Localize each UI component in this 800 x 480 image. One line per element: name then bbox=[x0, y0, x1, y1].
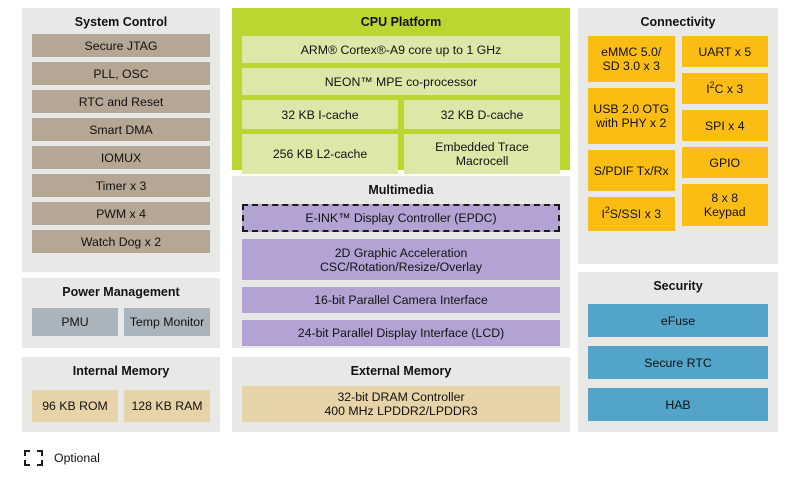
block-l2-cache[interactable]: 256 KB L2-cache bbox=[242, 134, 398, 174]
emmc-line-2: SD 3.0 x 3 bbox=[603, 59, 660, 73]
power-management-blocks: PMU Temp Monitor bbox=[32, 308, 210, 336]
etm-line-2: Macrocell bbox=[456, 154, 509, 168]
block-rtc-and-reset[interactable]: RTC and Reset bbox=[32, 90, 210, 113]
block-epdc[interactable]: E-INK™ Display Controller (EPDC) bbox=[242, 204, 560, 232]
block-camera-interface[interactable]: 16-bit Parallel Camera Interface bbox=[242, 287, 560, 313]
block-secure-rtc[interactable]: Secure RTC bbox=[588, 346, 768, 379]
block-2d-graphic-acceleration[interactable]: 2D Graphic Acceleration CSC/Rotation/Res… bbox=[242, 239, 560, 280]
connectivity-title: Connectivity bbox=[578, 8, 778, 34]
block-dram-controller[interactable]: 32-bit DRAM Controller 400 MHz LPDDR2/LP… bbox=[242, 386, 560, 422]
block-iomux[interactable]: IOMUX bbox=[32, 146, 210, 169]
external-memory-blocks: 32-bit DRAM Controller 400 MHz LPDDR2/LP… bbox=[242, 386, 560, 422]
block-pll-osc[interactable]: PLL, OSC bbox=[32, 62, 210, 85]
gpu-line-1: 2D Graphic Acceleration bbox=[335, 246, 468, 260]
keypad-line-1: 8 x 8 bbox=[711, 191, 738, 205]
block-128kb-ram[interactable]: 128 KB RAM bbox=[124, 390, 210, 422]
arm-cortex-a9-label: ARM® Cortex®-A9 core up to 1 GHz bbox=[301, 43, 502, 57]
panel-multimedia: Multimedia E-INK™ Display Controller (EP… bbox=[232, 176, 570, 348]
block-lcd-interface[interactable]: 24-bit Parallel Display Interface (LCD) bbox=[242, 320, 560, 346]
dram-line-2: 400 MHz LPDDR2/LPDDR3 bbox=[324, 404, 477, 418]
block-temp-monitor[interactable]: Temp Monitor bbox=[124, 308, 210, 336]
legend-optional-label: Optional bbox=[54, 451, 100, 465]
panel-cpu-platform: CPU Platform ARM® Cortex®-A9 core up to … bbox=[232, 8, 570, 170]
connectivity-right-column: UART x 5 I2C x 3 SPI x 4 GPIO 8 x 8 Keyp… bbox=[682, 36, 769, 256]
block-secure-jtag[interactable]: Secure JTAG bbox=[32, 34, 210, 57]
block-pmu[interactable]: PMU bbox=[32, 308, 118, 336]
block-spi[interactable]: SPI x 4 bbox=[682, 110, 769, 141]
block-i2c[interactable]: I2C x 3 bbox=[682, 73, 769, 104]
block-pwm[interactable]: PWM x 4 bbox=[32, 202, 210, 225]
i2s-ssi-label: I2S/SSI x 3 bbox=[601, 207, 661, 221]
gpu-line-2: CSC/Rotation/Resize/Overlay bbox=[320, 260, 482, 274]
legend: Optional bbox=[24, 450, 100, 466]
etm-line-1: Embedded Trace bbox=[435, 140, 529, 154]
block-spdif[interactable]: S/PDIF Tx/Rx bbox=[588, 150, 675, 191]
cpu-platform-blocks: ARM® Cortex®-A9 core up to 1 GHz NEON™ M… bbox=[242, 36, 560, 174]
keypad-line-2: Keypad bbox=[704, 205, 746, 219]
panel-system-control: System Control Secure JTAG PLL, OSC RTC … bbox=[22, 8, 220, 272]
block-timer[interactable]: Timer x 3 bbox=[32, 174, 210, 197]
block-embedded-trace-macrocell[interactable]: Embedded Trace Macrocell bbox=[404, 134, 560, 174]
block-i-cache[interactable]: 32 KB I-cache bbox=[242, 100, 398, 129]
panel-internal-memory: Internal Memory 96 KB ROM 128 KB RAM bbox=[22, 357, 220, 432]
security-title: Security bbox=[578, 272, 778, 298]
connectivity-columns: eMMC 5.0/ SD 3.0 x 3 USB 2.0 OTG with PH… bbox=[588, 36, 768, 256]
block-smart-dma[interactable]: Smart DMA bbox=[32, 118, 210, 141]
block-neon-mpe[interactable]: NEON™ MPE co-processor bbox=[242, 68, 560, 95]
panel-external-memory: External Memory 32-bit DRAM Controller 4… bbox=[232, 357, 570, 432]
block-96kb-rom[interactable]: 96 KB ROM bbox=[32, 390, 118, 422]
block-keypad[interactable]: 8 x 8 Keypad bbox=[682, 184, 769, 226]
i2c-label: I2C x 3 bbox=[706, 82, 743, 96]
dram-line-1: 32-bit DRAM Controller bbox=[337, 390, 464, 404]
internal-memory-title: Internal Memory bbox=[22, 357, 220, 383]
block-gpio[interactable]: GPIO bbox=[682, 147, 769, 178]
usb-line-1: USB 2.0 OTG bbox=[593, 102, 669, 116]
external-memory-title: External Memory bbox=[232, 357, 570, 383]
usb-line-2: with PHY x 2 bbox=[596, 116, 666, 130]
system-control-blocks: Secure JTAG PLL, OSC RTC and Reset Smart… bbox=[32, 34, 210, 253]
block-d-cache[interactable]: 32 KB D-cache bbox=[404, 100, 560, 129]
block-arm-cortex-a9[interactable]: ARM® Cortex®-A9 core up to 1 GHz bbox=[242, 36, 560, 63]
block-usb-otg[interactable]: USB 2.0 OTG with PHY x 2 bbox=[588, 88, 675, 144]
block-efuse[interactable]: eFuse bbox=[588, 304, 768, 337]
panel-security: Security eFuse Secure RTC HAB bbox=[578, 272, 778, 432]
emmc-line-1: eMMC 5.0/ bbox=[601, 45, 661, 59]
cpu-platform-title: CPU Platform bbox=[232, 8, 570, 34]
power-management-title: Power Management bbox=[22, 278, 220, 304]
panel-connectivity: Connectivity eMMC 5.0/ SD 3.0 x 3 USB 2.… bbox=[578, 8, 778, 264]
system-control-title: System Control bbox=[22, 8, 220, 34]
connectivity-left-column: eMMC 5.0/ SD 3.0 x 3 USB 2.0 OTG with PH… bbox=[588, 36, 675, 256]
block-uart[interactable]: UART x 5 bbox=[682, 36, 769, 67]
internal-memory-blocks: 96 KB ROM 128 KB RAM bbox=[32, 390, 210, 422]
security-blocks: eFuse Secure RTC HAB bbox=[588, 304, 768, 421]
multimedia-blocks: E-INK™ Display Controller (EPDC) 2D Grap… bbox=[242, 204, 560, 346]
block-emmc-sd[interactable]: eMMC 5.0/ SD 3.0 x 3 bbox=[588, 36, 675, 82]
legend-optional-swatch-icon bbox=[24, 450, 43, 466]
block-diagram: System Control Secure JTAG PLL, OSC RTC … bbox=[0, 0, 800, 480]
multimedia-title: Multimedia bbox=[232, 176, 570, 202]
block-hab[interactable]: HAB bbox=[588, 388, 768, 421]
panel-power-management: Power Management PMU Temp Monitor bbox=[22, 278, 220, 348]
block-i2s-ssi[interactable]: I2S/SSI x 3 bbox=[588, 197, 675, 231]
block-watch-dog[interactable]: Watch Dog x 2 bbox=[32, 230, 210, 253]
